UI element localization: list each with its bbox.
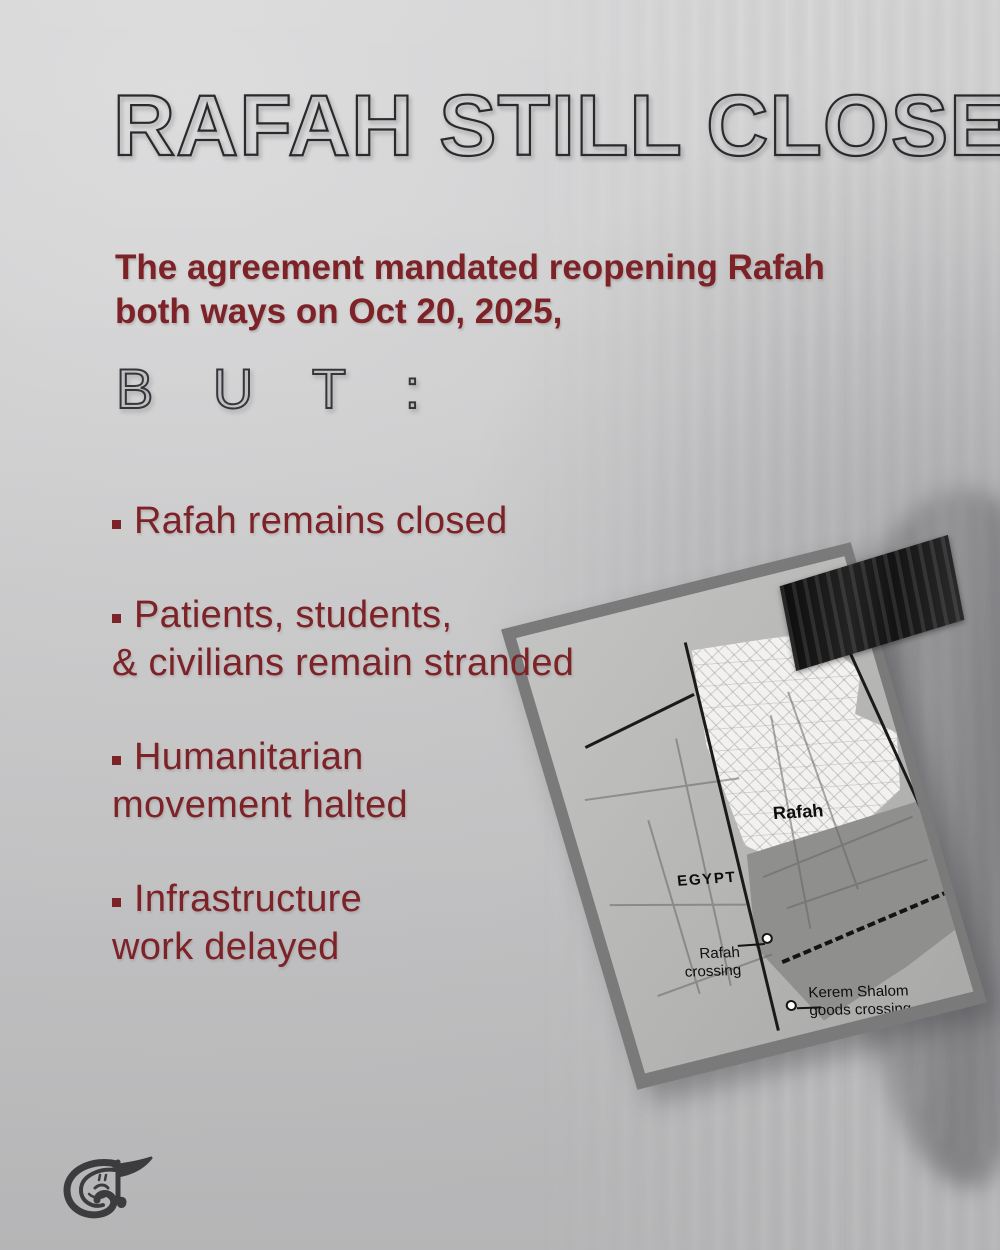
bullet-text: Humanitarian [134, 736, 364, 778]
list-item: Infrastructure work delayed [112, 875, 752, 971]
but-label: B U T : [116, 358, 442, 420]
bullet-line-continued: movement halted [112, 781, 752, 829]
square-bullet-icon [112, 614, 121, 623]
bullet-line: Humanitarian [112, 733, 752, 781]
list-item: Rafah remains closed [112, 497, 752, 545]
list-item: Humanitarian movement halted [112, 733, 752, 829]
page-title: RAFAH STILL CLOSED [113, 78, 1000, 174]
list-item: Patients, students, & civilians remain s… [112, 591, 752, 687]
square-bullet-icon [112, 756, 121, 765]
square-bullet-icon [112, 520, 121, 529]
subheadline-line-1: The agreement mandated reopening Rafah [115, 248, 825, 287]
al-mayadeen-logo-icon [55, 1150, 155, 1232]
square-bullet-icon [112, 898, 121, 907]
bullet-line-continued: & civilians remain stranded [112, 639, 752, 687]
bullet-text: Patients, students, [134, 594, 452, 636]
text-content: RAFAH STILL CLOSED The agreement mandate… [0, 0, 1000, 1250]
bullet-line: Patients, students, [112, 591, 752, 639]
bullet-line: Rafah remains closed [112, 497, 752, 545]
bullet-text: Infrastructure [134, 878, 362, 920]
subheadline-line-2: both ways on Oct 20, 2025, [115, 290, 875, 334]
bullet-line-continued: work delayed [112, 923, 752, 971]
bullet-line: Infrastructure [112, 875, 752, 923]
infographic-poster: EGYPT Rafah Rafah crossing Kerem Shalom … [0, 0, 1000, 1250]
bullet-text: Rafah remains closed [134, 500, 508, 542]
subheadline: The agreement mandated reopening Rafah b… [115, 246, 875, 334]
bullet-list: Rafah remains closed Patients, students,… [112, 497, 752, 971]
